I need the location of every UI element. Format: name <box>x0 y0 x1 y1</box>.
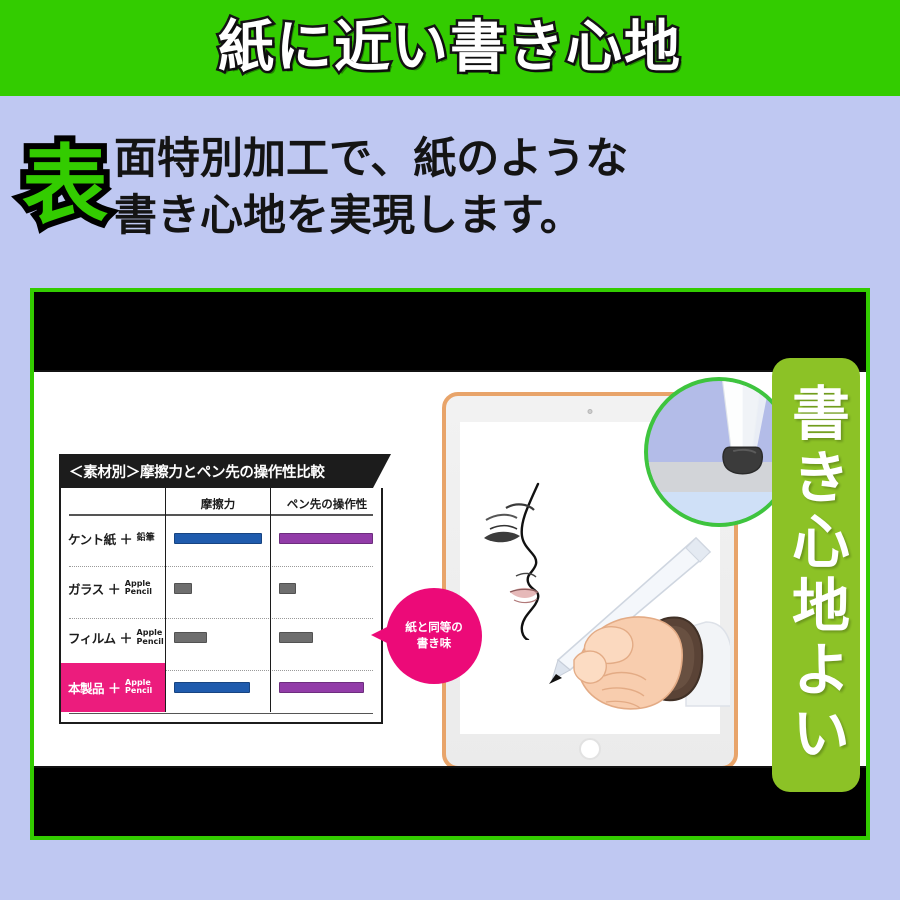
bar-control <box>279 632 313 643</box>
subtitle-text: 面特別加工で、紙のような 書き心地を実現します。 <box>114 131 628 245</box>
bar-cell-control <box>271 564 383 614</box>
plus-sign: ＋ <box>108 678 121 697</box>
bar-control <box>279 682 364 693</box>
letterbox-top <box>34 292 866 370</box>
vertical-banner: 書き心地よい <box>772 358 860 792</box>
comparison-chart: ＜素材別＞摩擦力とペン先の操作性比較 摩擦力 ペン先の操作性 <box>59 454 411 732</box>
pen-name: Apple Pencil <box>125 679 152 696</box>
bar-friction <box>174 583 192 594</box>
hand-holding-pencil-illustration <box>500 510 730 720</box>
subtitle-section: 表 面特別加工で、紙のような 書き心地を実現します。 <box>0 104 900 272</box>
bubble-line-1: 紙と同等の <box>405 620 463 636</box>
column-header-control: ペン先の操作性 <box>271 488 383 514</box>
plus-sign: ＋ <box>108 579 121 598</box>
material-name: ガラス <box>68 579 104 598</box>
photo-content: ＜素材別＞摩擦力とペン先の操作性比較 摩擦力 ペン先の操作性 <box>34 370 866 768</box>
bar-control <box>279 533 373 544</box>
pen-name: Apple Pencil <box>137 629 164 646</box>
header-banner: 紙に近い書き心地 <box>0 0 900 96</box>
chart-corner-blank <box>61 488 165 514</box>
bubble-line-2: 書き味 <box>417 636 452 652</box>
vertical-banner-text: 書き心地よい <box>787 383 845 767</box>
bar-control <box>279 583 296 594</box>
material-name: フィルム <box>68 628 116 647</box>
subtitle-line-2: 書き心地を実現します。 <box>114 188 628 245</box>
bar-cell-friction <box>166 663 270 713</box>
plus-sign: ＋ <box>120 529 133 548</box>
product-promo-page: 紙に近い書き心地 表 面特別加工で、紙のような 書き心地を実現します。 ＜素材別… <box>0 0 900 900</box>
chart-body: 摩擦力 ペン先の操作性 ケント紙 ＋ 鉛筆 <box>59 488 383 724</box>
letterbox-bottom <box>34 770 866 836</box>
chart-title: ＜素材別＞摩擦力とペン先の操作性比較 <box>69 461 325 482</box>
bar-cell-friction <box>166 514 270 564</box>
bar-cell-control <box>271 663 383 713</box>
material-name: 本製品 <box>68 678 104 697</box>
pen-name: Apple Pencil <box>125 580 152 597</box>
table-row-label: ケント紙 ＋ 鉛筆 <box>61 514 165 564</box>
bar-friction <box>174 632 207 643</box>
front-camera-icon <box>588 409 593 414</box>
bar-cell-control <box>271 613 383 663</box>
table-row-label-highlighted: 本製品 ＋ Apple Pencil <box>61 663 165 713</box>
table-row-label: フィルム ＋ Apple Pencil <box>61 613 165 663</box>
bar-cell-friction <box>166 564 270 614</box>
bar-cell-control <box>271 514 383 564</box>
photo-frame: ＜素材別＞摩擦力とペン先の操作性比較 摩擦力 ペン先の操作性 <box>30 288 870 840</box>
front-side-badge: 表 <box>22 143 108 229</box>
chart-grid: 摩擦力 ペン先の操作性 ケント紙 ＋ 鉛筆 <box>61 488 381 722</box>
plus-sign: ＋ <box>120 628 133 647</box>
table-row-label: ガラス ＋ Apple Pencil <box>61 564 165 614</box>
subtitle-line-1: 面特別加工で、紙のような <box>114 131 628 188</box>
bar-friction <box>174 682 250 693</box>
speech-bubble: 紙と同等の 書き味 <box>386 588 482 684</box>
bar-cell-friction <box>166 613 270 663</box>
chart-title-bar: ＜素材別＞摩擦力とペン先の操作性比較 <box>59 454 391 488</box>
page-title: 紙に近い書き心地 <box>218 20 682 76</box>
home-button-icon <box>579 738 601 760</box>
material-name: ケント紙 <box>68 529 116 548</box>
magnified-pen-tip-icon <box>648 381 790 523</box>
column-header-friction: 摩擦力 <box>166 488 270 514</box>
bar-friction <box>174 533 262 544</box>
pen-name: 鉛筆 <box>137 534 155 543</box>
